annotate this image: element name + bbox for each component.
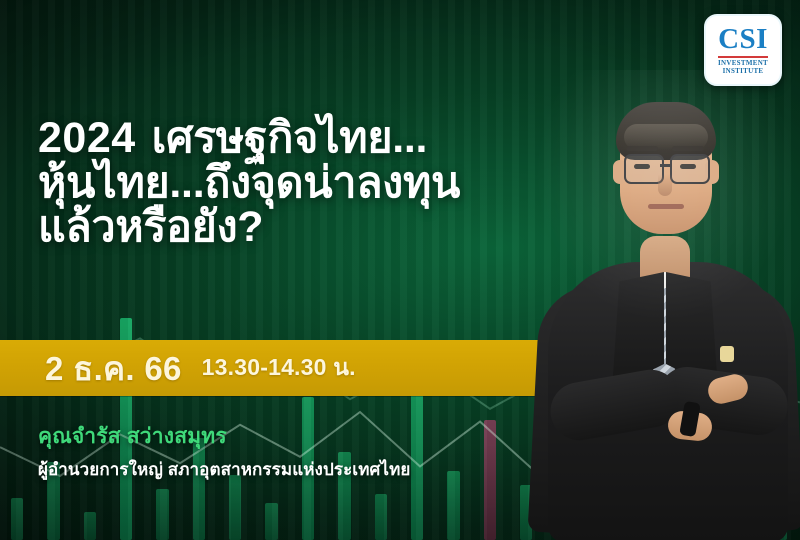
schedule-band: 2 ธ.ค. 66 13.30-14.30 น.	[0, 340, 556, 396]
logo-subtitle-investment: INVESTMENT	[718, 59, 768, 67]
hair	[616, 102, 716, 160]
logo-subtitle-institute: INSTITUTE	[723, 67, 764, 75]
event-date: 2 ธ.ค. 66	[45, 342, 182, 395]
headline-line3: แล้วหรือยัง?	[38, 205, 568, 250]
logo-wordmark: CSI	[718, 25, 768, 54]
logo-divider	[718, 56, 768, 58]
mouth	[648, 204, 684, 209]
csi-logo: CSI INVESTMENT INSTITUTE	[704, 14, 782, 86]
speaker-name: คุณจำรัส สว่างสมุทร	[38, 420, 410, 453]
webinar-poster: 2024เศรษฐกิจไทย... หุ้นไทย...ถึงจุดน่าลง…	[0, 0, 800, 540]
eyeglasses-bridge	[660, 164, 670, 167]
eyebrow-left	[626, 146, 658, 151]
eyebrow-right	[672, 146, 704, 151]
headline-line1: เศรษฐกิจไทย...	[152, 114, 428, 162]
nose	[658, 174, 672, 196]
headline-year: 2024	[38, 114, 136, 162]
page-title: 2024เศรษฐกิจไทย... หุ้นไทย...ถึงจุดน่าลง…	[38, 116, 568, 250]
event-time: 13.30-14.30 น.	[202, 350, 356, 386]
speaker-block: คุณจำรัส สว่างสมุทร ผู้อำนวยการใหญ่ สภาอ…	[38, 420, 410, 483]
headline-line2: หุ้นไทย...ถึงจุดน่าลงทุน	[38, 161, 568, 206]
speaker-photo	[520, 76, 800, 540]
speaker-title: ผู้อำนวยการใหญ่ สภาอุตสาหกรรมแห่งประเทศไ…	[38, 456, 410, 483]
lapel-pin	[720, 346, 734, 362]
eyeglasses-lens-right	[670, 154, 710, 184]
